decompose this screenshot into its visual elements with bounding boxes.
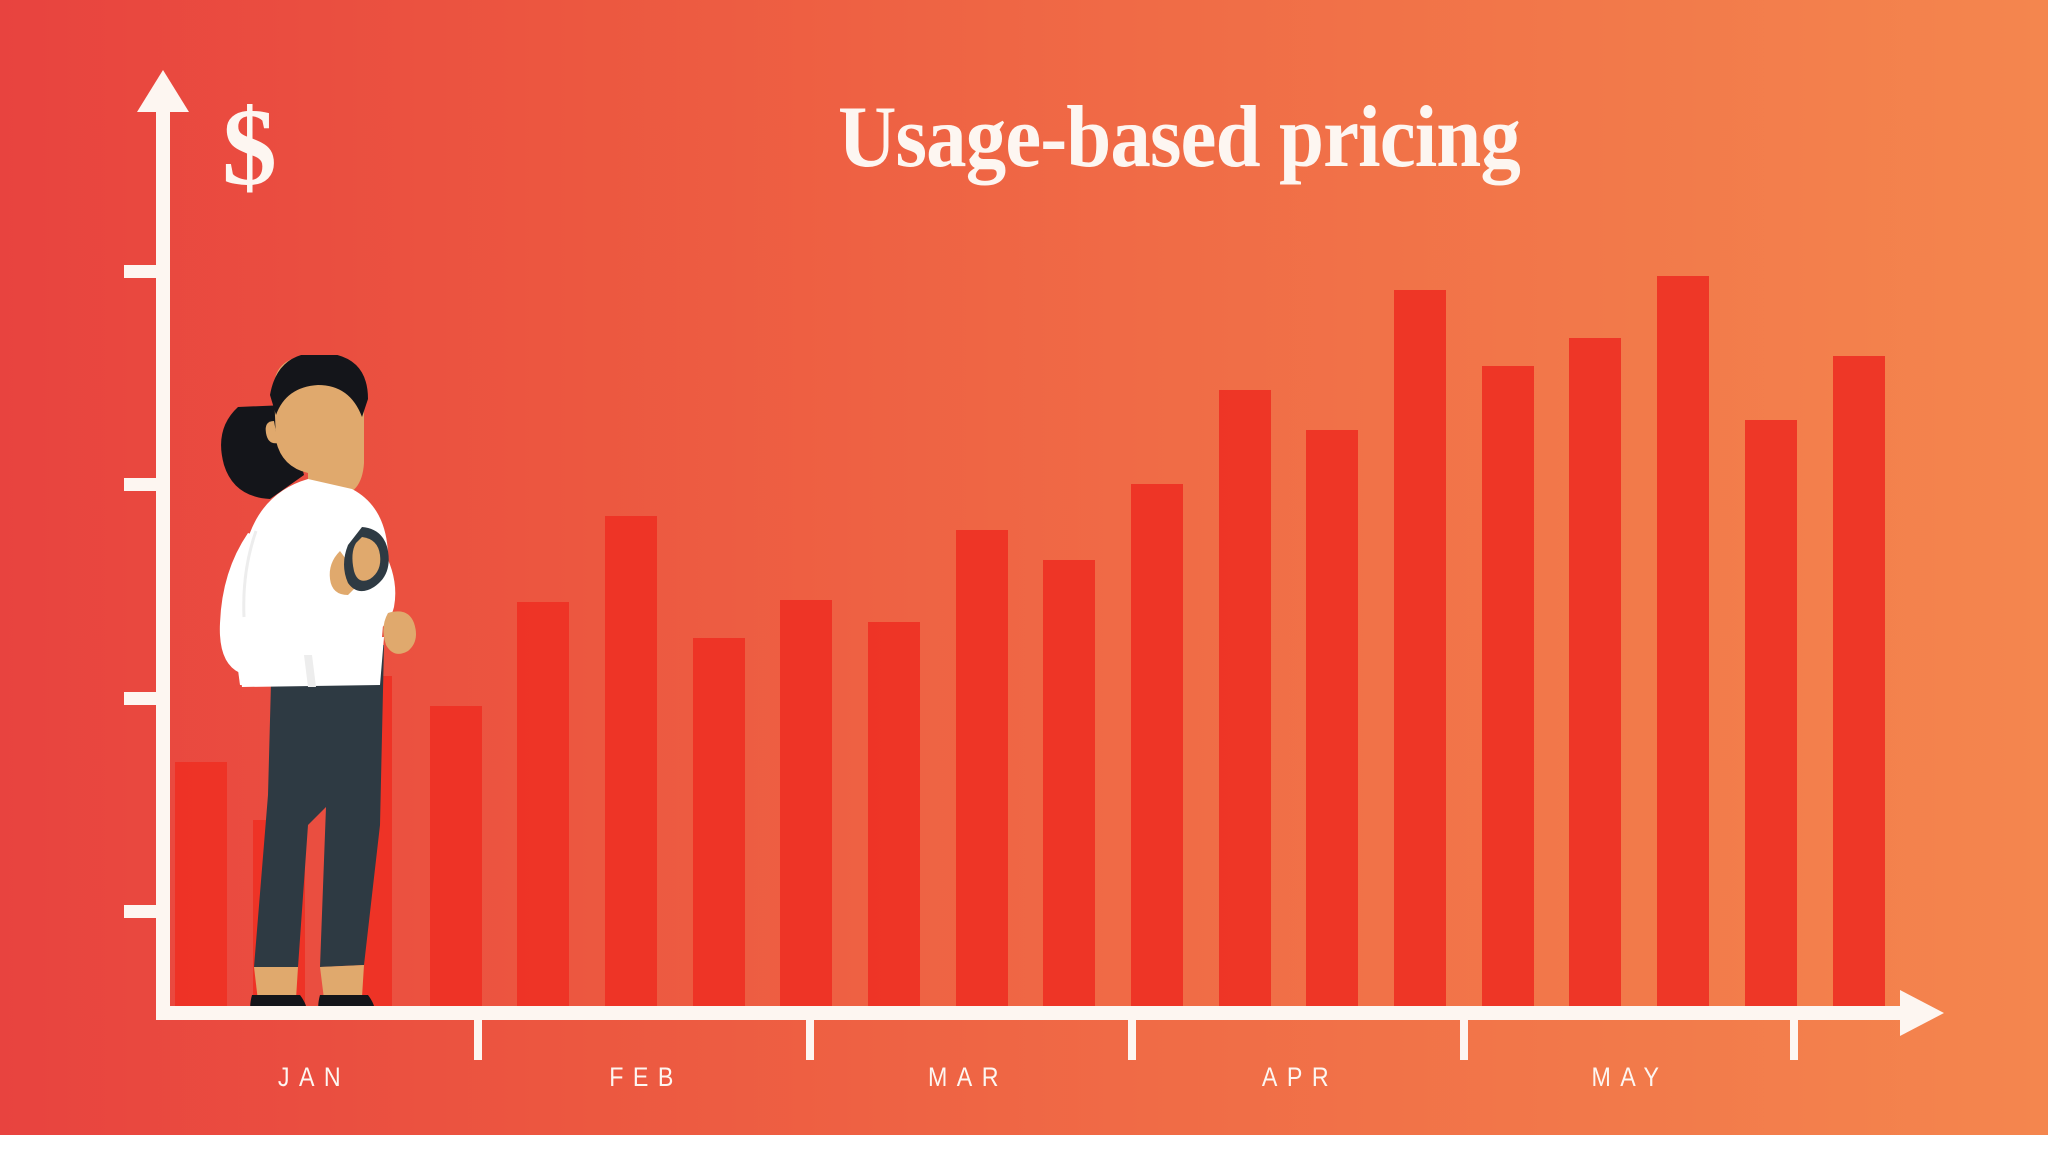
bar-may-17 — [1569, 338, 1621, 1006]
bar-may-19 — [1745, 420, 1797, 1006]
bar-feb-7 — [693, 638, 745, 1006]
bar-may-18 — [1657, 276, 1709, 1006]
month-label-mar: MAR — [928, 1062, 1008, 1093]
bar-mar-9 — [868, 622, 920, 1006]
y-axis-tick-3 — [124, 692, 170, 705]
x-axis-tick-3 — [1128, 1020, 1136, 1060]
bar-apr-16 — [1482, 366, 1534, 1006]
month-label-jan: JAN — [278, 1062, 350, 1093]
month-label-apr: APR — [1262, 1062, 1338, 1093]
bar-mar-11 — [1043, 560, 1095, 1006]
bar-feb-5 — [517, 602, 569, 1006]
y-axis-tick-4 — [124, 905, 170, 918]
bar-feb-6 — [605, 516, 657, 1006]
bar-apr-15 — [1394, 290, 1446, 1006]
illustration-canvas: JANFEBMARAPRMAY $ Usage-based pricing — [0, 0, 2048, 1152]
bar-apr-14 — [1306, 430, 1358, 1006]
bar-mar-12 — [1131, 484, 1183, 1006]
x-axis-arrow-icon — [1900, 990, 1944, 1036]
x-axis-tick-5 — [1790, 1020, 1798, 1060]
y-axis-tick-2 — [124, 478, 170, 491]
bar-mar-10 — [956, 530, 1008, 1006]
month-label-feb: FEB — [609, 1062, 683, 1093]
month-label-may: MAY — [1592, 1062, 1669, 1093]
page-title: Usage-based pricing — [838, 94, 1520, 182]
y-axis-tick-1 — [124, 265, 170, 278]
x-axis-line — [156, 1006, 1908, 1020]
x-axis-tick-1 — [474, 1020, 482, 1060]
x-axis-tick-2 — [806, 1020, 814, 1060]
bar-apr-13 — [1219, 390, 1271, 1006]
bar-feb-8 — [780, 600, 832, 1006]
y-axis-line — [156, 95, 170, 1020]
bar-may-20 — [1833, 356, 1885, 1006]
dollar-currency-symbol: $ — [222, 92, 277, 202]
person-illustration — [212, 355, 472, 1015]
x-axis-tick-4 — [1460, 1020, 1468, 1060]
